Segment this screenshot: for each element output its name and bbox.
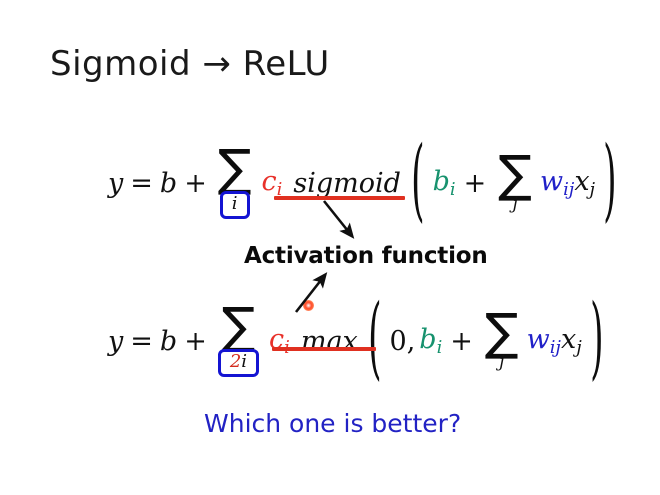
eq2-coefficient-c: ci <box>269 324 290 358</box>
eq1-inner-bias: bi <box>433 166 456 200</box>
eq1-input-subscript: j <box>590 179 596 200</box>
eq2-inner-summation: ∑ j <box>485 312 519 371</box>
eq1-summation: ∑ i <box>218 148 252 219</box>
eq1-weight-subscript: ij <box>563 179 574 200</box>
eq2-sum-index-prefix: 2 <box>230 351 241 372</box>
eq1-weight-base: w <box>540 166 563 197</box>
eq2-input-subscript: j <box>576 337 582 358</box>
eq2-inner-sum-symbol: ∑ <box>485 312 519 353</box>
eq1-inner-bias-base: b <box>433 166 450 197</box>
eq1-bias-b: b <box>160 168 177 199</box>
relu-equation: y = b + ∑ 2i ci max ( 0, bi + ∑ j wij xj <box>108 306 611 377</box>
eq1-lhs-y: y <box>108 168 123 199</box>
eq2-plus: + <box>184 326 207 357</box>
eq1-coefficient-base: c <box>262 166 277 197</box>
activation-function-label: Activation function <box>244 243 488 269</box>
eq2-function-name: max <box>299 326 360 357</box>
eq1-function-name: sigmoid <box>291 168 403 199</box>
eq2-equals: = <box>130 326 153 357</box>
eq1-input-base: x <box>574 166 589 197</box>
eq2-inner-plus: + <box>450 326 473 357</box>
eq1-inner-sum-symbol: ∑ <box>498 154 532 195</box>
eq2-sum-symbol: ∑ <box>222 306 256 347</box>
eq2-inner-bias: bi <box>419 324 442 358</box>
footer-question: Which one is better? <box>204 409 461 438</box>
eq2-close-paren: ) <box>590 296 603 386</box>
eq1-close-paren: ) <box>603 138 616 228</box>
eq2-input: xj <box>561 324 582 358</box>
eq1-plus: + <box>184 168 207 199</box>
eq2-bias-b: b <box>160 326 177 357</box>
eq2-inner-sum-index: j <box>499 354 504 371</box>
eq2-sum-index-box: 2i <box>218 349 259 377</box>
sigmoid-red-underline <box>274 196 405 200</box>
eq1-inner-summation: ∑ j <box>498 154 532 213</box>
eq1-sum-index-box: i <box>220 191 250 219</box>
sigmoid-equation: y = b + ∑ i ci sigmoid ( bi + ∑ j wij xj <box>108 148 625 219</box>
eq1-sum-symbol: ∑ <box>218 148 252 189</box>
eq1-weight: wij <box>540 166 574 200</box>
arrow-highlight-dot <box>303 300 314 311</box>
eq2-weight: wij <box>527 324 561 358</box>
eq1-inner-sum-index: j <box>512 196 517 213</box>
eq2-open-paren: ( <box>368 296 381 386</box>
eq1-input: xj <box>574 166 595 200</box>
eq1-equals: = <box>130 168 153 199</box>
eq2-lhs-y: y <box>108 326 123 357</box>
slide-canvas: Sigmoid → ReLU y = b + ∑ i ci sigmoid ( … <box>0 0 660 495</box>
eq1-inner-bias-subscript: i <box>450 179 456 200</box>
eq2-sum-index: i <box>241 351 247 372</box>
eq2-inner-bias-subscript: i <box>437 337 443 358</box>
eq1-sum-index: i <box>232 193 238 214</box>
page-title: Sigmoid → ReLU <box>50 44 330 84</box>
eq2-inner-bias-base: b <box>419 324 436 355</box>
max-red-underline <box>272 347 376 351</box>
eq2-zero-argument: 0, <box>390 326 416 357</box>
eq2-input-base: x <box>561 324 576 355</box>
eq2-weight-base: w <box>527 324 550 355</box>
eq1-inner-plus: + <box>464 168 487 199</box>
eq1-open-paren: ( <box>411 138 424 228</box>
eq2-weight-subscript: ij <box>550 337 561 358</box>
eq2-summation: ∑ 2i <box>218 306 259 377</box>
